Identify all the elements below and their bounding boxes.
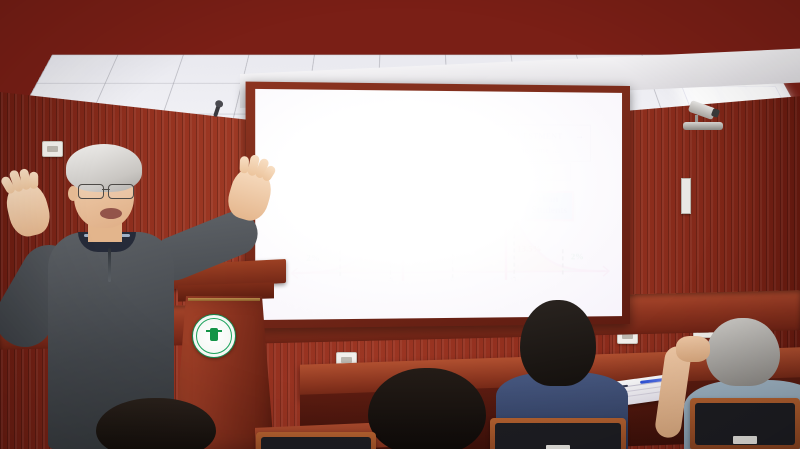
chair-tag (733, 436, 757, 444)
wall-plaque-right (681, 178, 691, 214)
presenter-ear (68, 186, 78, 201)
presentation-slide: Unfortunately, despite all of this INVES… (255, 89, 622, 320)
urban-label-line-2: Students (531, 206, 567, 217)
band-label-135pct-right: 13.5% (517, 243, 541, 253)
x-tick-zero: 0 (451, 276, 454, 283)
lecture-hall-photo: Unfortunately, despite all of this INVES… (0, 0, 800, 449)
presenter-mouth (100, 208, 122, 219)
attendee-far-left-hair (96, 398, 216, 449)
rural-label-line-1: Rural (329, 176, 366, 187)
attendee-front-left (368, 368, 488, 449)
finger (29, 172, 38, 189)
band-label-34pct-right: 34% (467, 209, 485, 219)
rural-label-line-2: Students (329, 188, 366, 199)
chair (490, 418, 626, 449)
eyeglasses-left-lens (78, 184, 104, 199)
chair-tag (546, 445, 570, 449)
attendee-far-left (96, 398, 216, 449)
arrow-icon: → (575, 131, 584, 141)
projection-screen-frame: Unfortunately, despite all of this INVES… (246, 82, 630, 329)
security-camera (683, 104, 727, 132)
projection-screen[interactable]: Unfortunately, despite all of this INVES… (255, 89, 622, 320)
chair (690, 398, 800, 449)
urban-label-line-1: Urban (531, 195, 567, 206)
urban-students-label: Urban Students (524, 191, 574, 221)
band-label-135pct-left: 13.5% (346, 244, 371, 254)
attendee-right-hair (706, 318, 780, 386)
slide-title-line-1: Unfortunately, despite all of this INVES… (354, 130, 590, 141)
presenter-zipper (108, 248, 111, 282)
band-label-2pct-right: 2% (571, 251, 584, 261)
attendee-right-hand (676, 336, 710, 362)
eyeglasses-icon (78, 184, 134, 197)
camera-mount (683, 122, 723, 130)
presenter-left-hand (2, 178, 54, 240)
band-label-2pct-left: 2% (306, 252, 320, 262)
x-tick-minus-1: -1 (388, 277, 393, 284)
rural-students-label: Rural Students (321, 172, 373, 203)
attendee-center-hair (520, 300, 596, 386)
eyeglasses-right-lens (108, 184, 134, 199)
x-tick-plus-1: +1 (510, 276, 517, 283)
attendee-front-left-hair (368, 368, 486, 449)
chair (256, 432, 376, 449)
chair-pad (261, 437, 371, 449)
